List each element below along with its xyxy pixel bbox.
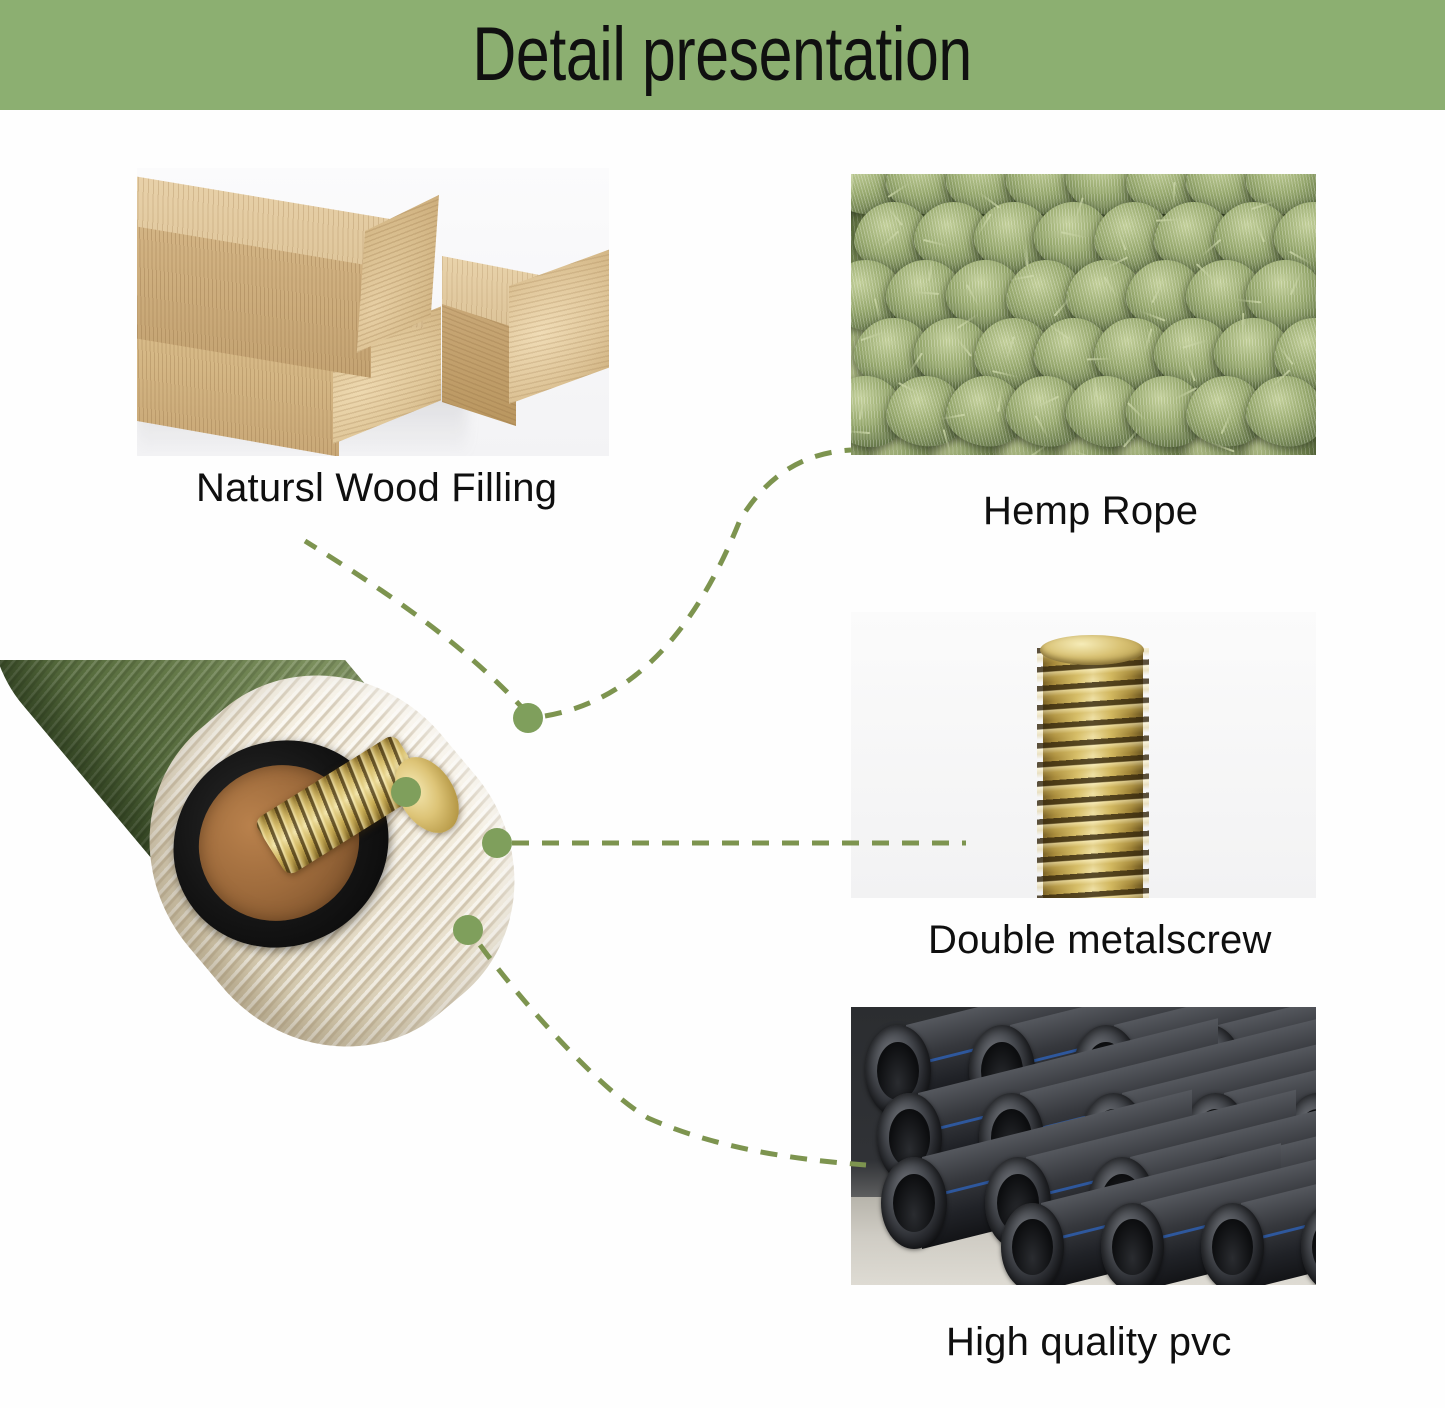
label-high-quality-pvc: High quality pvc xyxy=(946,1320,1232,1365)
wood-photo xyxy=(137,168,609,456)
pipe-opening xyxy=(1001,1203,1064,1285)
callout-dot-rope[interactable] xyxy=(513,703,543,733)
callout-dot-pvc[interactable] xyxy=(453,915,483,945)
hemp-rope-photo xyxy=(851,174,1316,455)
label-hemp-rope: Hemp Rope xyxy=(983,489,1198,534)
callout-dot-wood[interactable] xyxy=(391,777,421,807)
pipe-opening xyxy=(1101,1203,1164,1285)
rope-fiber xyxy=(851,174,853,200)
header-banner: Detail presentation xyxy=(0,0,1445,110)
pipe-opening xyxy=(1201,1203,1264,1285)
label-double-metalscrew: Double metalscrew xyxy=(928,918,1272,963)
product-photo xyxy=(0,660,660,1408)
screw-top-face xyxy=(1040,635,1144,665)
page-title: Detail presentation xyxy=(473,17,972,93)
metal-screw-photo xyxy=(851,612,1316,898)
callout-dot-screw[interactable] xyxy=(482,828,512,858)
pvc-pipes-photo xyxy=(851,1007,1316,1285)
label-wood-filling: Natursl Wood Filling xyxy=(196,466,557,511)
pipe-opening xyxy=(881,1157,947,1249)
screw-threads xyxy=(1037,648,1149,898)
infographic-page: Detail presentation xyxy=(0,0,1445,1408)
